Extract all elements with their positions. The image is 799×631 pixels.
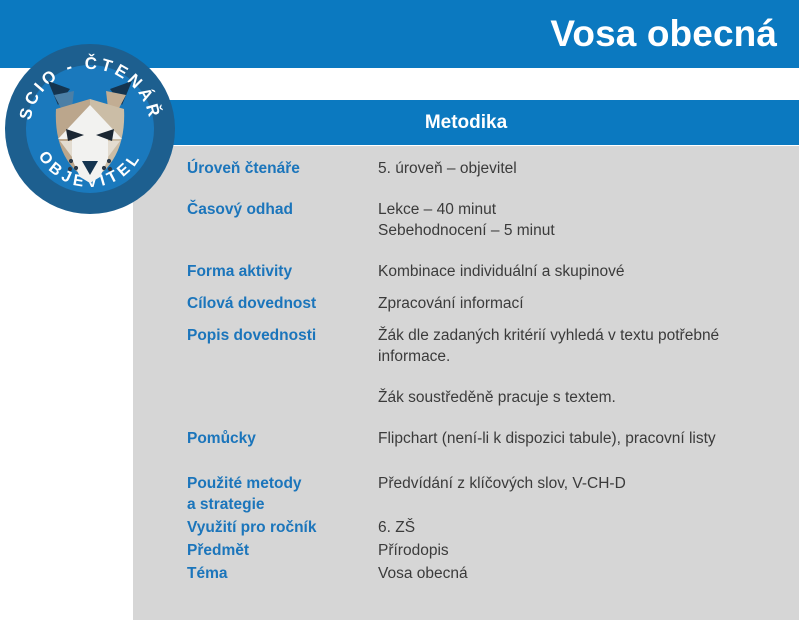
row-value: Přírodopis xyxy=(378,540,787,563)
metadata-table: Úroveň čtenáře5. úroveň – objevitelČasov… xyxy=(187,158,787,586)
table-row: Forma aktivityKombinace individuální a s… xyxy=(187,261,787,293)
metadata-table-body: Úroveň čtenáře5. úroveň – objevitelČasov… xyxy=(187,158,787,586)
table-row: Úroveň čtenáře5. úroveň – objevitel xyxy=(187,158,787,199)
row-value: Lekce – 40 minut Sebehodnocení – 5 minut xyxy=(378,199,787,261)
row-value: Žák dle zadaných kritérií vyhledá v text… xyxy=(378,325,787,387)
table-row: TémaVosa obecná xyxy=(187,563,787,586)
row-label: Popis dovednosti xyxy=(187,325,378,387)
table-row: Časový odhadLekce – 40 minut Sebehodnoce… xyxy=(187,199,787,261)
row-value: Zpracování informací xyxy=(378,293,787,325)
row-value: Vosa obecná xyxy=(378,563,787,586)
row-value: Kombinace individuální a skupinové xyxy=(378,261,787,293)
row-label: Úroveň čtenáře xyxy=(187,158,378,199)
row-value: 5. úroveň – objevitel xyxy=(378,158,787,199)
row-value: 6. ZŠ xyxy=(378,517,787,540)
row-label xyxy=(187,387,378,428)
scio-objevitel-logo-icon: SCIO - ČTENÁŘ OBJEVITEL xyxy=(4,43,176,215)
section-band: Metodika xyxy=(133,100,799,145)
row-label: Forma aktivity xyxy=(187,261,378,293)
table-row: Použité metody a strategiePředvídání z k… xyxy=(187,473,787,517)
row-value: Předvídání z klíčových slov, V-CH-D xyxy=(378,473,787,517)
row-label: Předmět xyxy=(187,540,378,563)
row-label: Pomůcky xyxy=(187,428,378,473)
table-row: Žák soustředěně pracuje s textem. xyxy=(187,387,787,428)
table-row: PomůckyFlipchart (není-li k dispozici ta… xyxy=(187,428,787,473)
logo-badge: SCIO - ČTENÁŘ OBJEVITEL xyxy=(4,43,176,215)
row-label: Téma xyxy=(187,563,378,586)
section-title: Metodika xyxy=(133,100,799,145)
row-label: Časový odhad xyxy=(187,199,378,261)
table-row: PředmětPřírodopis xyxy=(187,540,787,563)
metadata-panel: Úroveň čtenáře5. úroveň – objevitelČasov… xyxy=(133,146,799,620)
row-label: Využití pro ročník xyxy=(187,517,378,540)
row-label: Použité metody a strategie xyxy=(187,473,378,517)
table-row: Cílová dovednostZpracování informací xyxy=(187,293,787,325)
table-row: Popis dovednostiŽák dle zadaných kritéri… xyxy=(187,325,787,387)
row-value: Flipchart (není-li k dispozici tabule), … xyxy=(378,428,787,473)
row-label: Cílová dovednost xyxy=(187,293,378,325)
page-title: Vosa obecná xyxy=(550,6,777,61)
methodology-sheet: Vosa obecná Metodika Úroveň čtenáře5. úr… xyxy=(0,0,799,631)
row-value: Žák soustředěně pracuje s textem. xyxy=(378,387,787,428)
table-row: Využití pro ročník6. ZŠ xyxy=(187,517,787,540)
